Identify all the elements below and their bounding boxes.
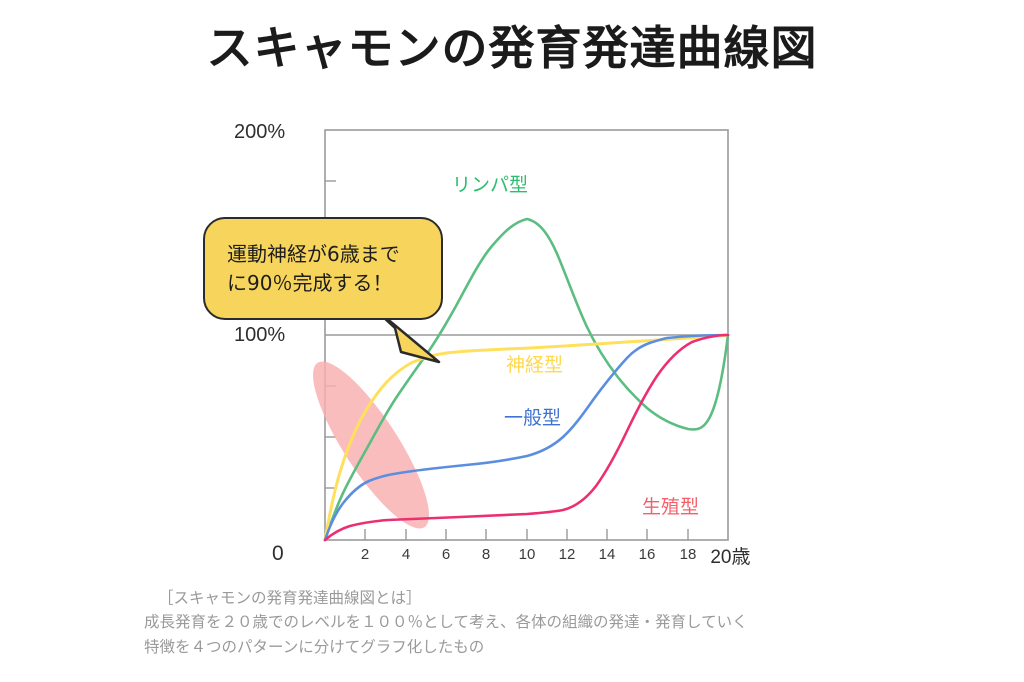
x-axis-tick-4: 4 <box>402 546 410 563</box>
x-axis-tick-12: 12 <box>559 546 576 563</box>
page-title: スキャモンの発育発達曲線図 <box>0 12 1024 78</box>
x-axis-label-20: 20歳 <box>710 542 750 569</box>
x-axis-tick-18: 18 <box>680 546 697 563</box>
y-axis-label-200: 200% <box>234 121 285 144</box>
x-axis-tick-8: 8 <box>482 546 490 563</box>
x-axis-label-0: 0 <box>272 542 284 566</box>
x-axis-tick-14: 14 <box>599 546 616 563</box>
slide-canvas: スキャモンの発育発達曲線図 <box>0 0 1024 682</box>
growth-curve-chart: 200% 100% 0 2 4 6 8 10 12 14 16 18 20歳 リ… <box>236 110 776 580</box>
x-axis-tick-16: 16 <box>639 546 656 563</box>
callout-text: 運動神経が6歳まで に90％完成する！ <box>205 219 441 318</box>
callout-line-2: に90％完成する！ <box>227 269 392 298</box>
caption-line-1: ［スキャモンの発育発達曲線図とは］ <box>144 586 748 610</box>
y-axis-label-100: 100% <box>234 324 285 347</box>
x-axis-tick-10: 10 <box>519 546 536 563</box>
callout-bubble: 運動神経が6歳まで に90％完成する！ <box>203 217 443 320</box>
caption-block: ［スキャモンの発育発達曲線図とは］ 成長発育を２０歳でのレベルを１００％として考… <box>144 586 748 659</box>
caption-line-2: 成長発育を２０歳でのレベルを１００％として考え、各体の組織の発達・発育していく <box>144 610 748 634</box>
curve-label-reproductive: 生殖型 <box>642 492 699 519</box>
curve-label-nerve: 神経型 <box>506 350 563 377</box>
x-axis-tick-6: 6 <box>442 546 450 563</box>
caption-line-3: 特徴を４つのパターンに分けてグラフ化したもの <box>144 635 748 659</box>
curve-label-lymph: リンパ型 <box>452 170 528 197</box>
curve-label-general: 一般型 <box>504 403 561 430</box>
x-axis-tick-2: 2 <box>361 546 369 563</box>
callout-line-1: 運動神経が6歳まで <box>227 240 400 269</box>
